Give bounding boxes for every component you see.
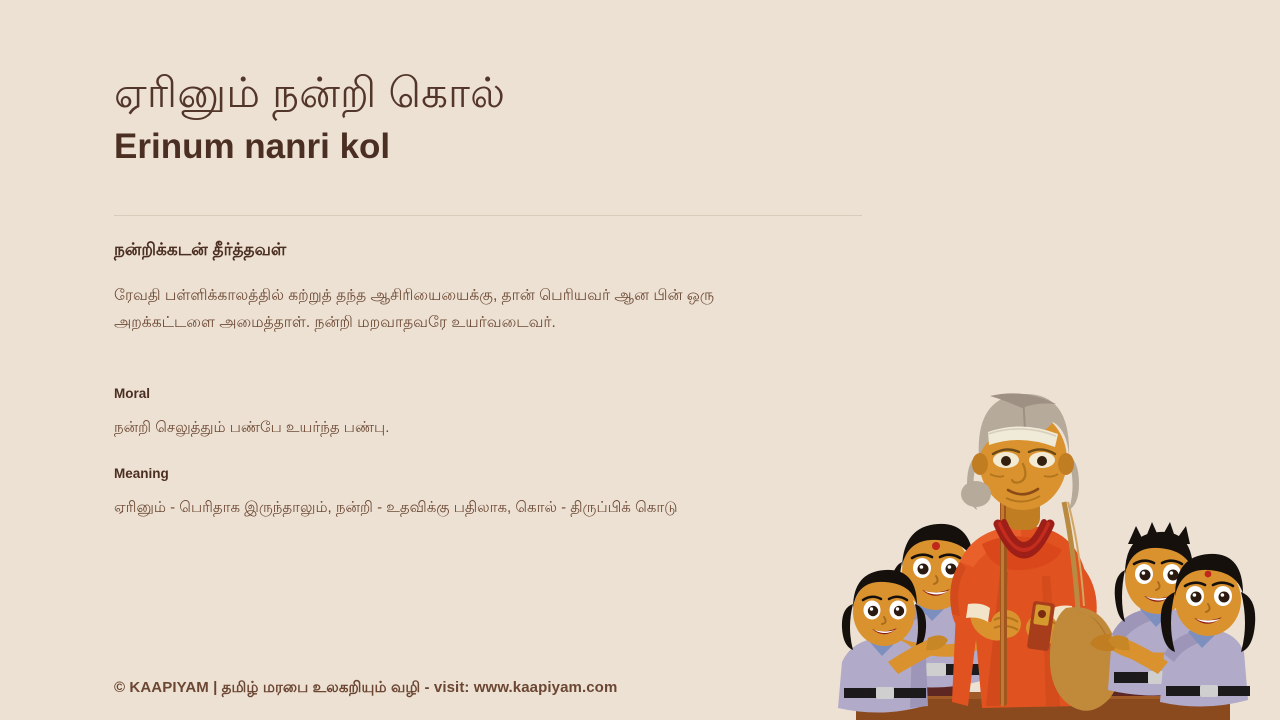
moral-label: Moral xyxy=(114,385,814,403)
header-divider xyxy=(114,215,862,216)
content-column: ஏரினும் நன்றி கொல் Erinum nanri kol xyxy=(114,0,874,168)
story-heading: நன்றிக்கடன் தீர்த்தவள் xyxy=(114,239,814,261)
page-background: ஏரினும் நன்றி கொல் Erinum nanri kol நன்ற… xyxy=(0,0,1280,720)
meaning-section: Meaning ஏரினும் - பெரிதாக இருந்தாலும், ந… xyxy=(114,465,814,519)
elderly-teacher-with-schoolchildren-illustration xyxy=(828,376,1258,720)
page-title-tamil: ஏரினும் நன்றி கொல் xyxy=(114,0,874,118)
page-title-transliteration: Erinum nanri kol xyxy=(114,118,874,168)
story-section: நன்றிக்கடன் தீர்த்தவள் ரேவதி பள்ளிக்காலத… xyxy=(114,239,814,336)
story-body-text: ரேவதி பள்ளிக்காலத்தில் கற்றுத் தந்த ஆசிர… xyxy=(114,261,782,336)
moral-section: Moral நன்றி செலுத்தும் பண்பே உயர்ந்த பண்… xyxy=(114,385,814,439)
moral-text: நன்றி செலுத்தும் பண்பே உயர்ந்த பண்பு. xyxy=(114,403,814,439)
footer-credit: © KAAPIYAM | தமிழ் மரபை உலகறியும் வழி - … xyxy=(114,679,617,698)
meaning-text: ஏரினும் - பெரிதாக இருந்தாலும், நன்றி - உ… xyxy=(114,483,814,519)
meaning-label: Meaning xyxy=(114,465,814,483)
